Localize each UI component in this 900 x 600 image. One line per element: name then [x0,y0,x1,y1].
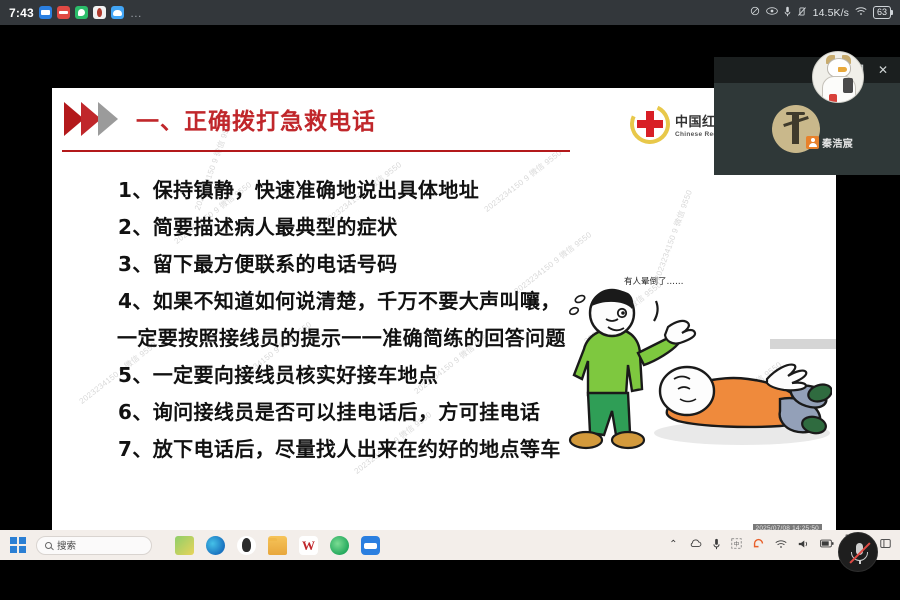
video-call-titlebar: ❐ ✕ [714,57,900,83]
status-bar-right: 14.5K/s 63 [750,6,891,20]
taskbar-left: 搜索 [0,536,380,555]
messenger-icon[interactable] [39,6,52,19]
video-call-overlay[interactable]: ❐ ✕ 秦浩宸 [714,57,900,175]
search-input[interactable]: 搜索 [36,536,152,555]
desktop-grey-strip [770,339,836,349]
eye-icon [766,6,778,19]
recorder-icon[interactable] [57,6,70,19]
cloud-sync-icon[interactable] [689,539,702,551]
mute-bell-icon [750,6,760,19]
chevron-up-icon[interactable]: ⌃ [669,540,677,550]
app-green-icon[interactable] [330,536,349,555]
file-explorer-icon[interactable] [268,536,287,555]
close-window-button[interactable]: ✕ [878,64,888,76]
status-bar-left: 7:43 … [9,6,143,20]
volume-icon[interactable] [798,539,809,552]
bullet-line: 2、简要描述病人最典型的症状 [118,217,678,237]
wifi-icon[interactable] [775,539,787,552]
cloud-icon[interactable] [111,6,124,19]
network-speed: 14.5K/s [813,7,849,19]
widgets-icon[interactable] [175,536,194,555]
participant-name-badge: 秦浩宸 [806,135,853,150]
screen: 7:43 … 14.5K/s 63 [0,0,900,600]
desktop-backdrop: 2023234150 9 微信 9550 2023234150 9 微信 955… [0,25,900,530]
sogou-icon[interactable] [753,538,764,552]
qq-penguin-icon[interactable] [93,6,106,19]
battery-icon[interactable] [820,539,834,551]
chevron-arrows-icon [64,102,126,136]
title-divider [62,150,570,152]
battery-level: 63 [873,6,891,19]
slide-title: 一、正确拨打急救电话 [136,102,376,136]
no-vibrate-icon [797,6,807,20]
bullet-line: 1、保持镇静，快速准确地说出具体地址 [118,180,678,200]
ime-icon[interactable]: 中 [731,538,742,552]
wps-office-icon[interactable] [299,536,318,555]
video-call-body: 秦浩宸 [714,83,900,175]
windows-taskbar: 搜索 ⌃ 中 [0,530,900,560]
search-placeholder: 搜索 [57,538,76,552]
illustration-caption: 有人晕倒了…… [624,275,684,287]
start-button[interactable] [10,537,27,554]
android-status-bar: 7:43 … 14.5K/s 63 [0,0,900,25]
status-overflow-dots: … [130,6,143,20]
taskbar-app-list [175,536,380,555]
qq-icon[interactable] [237,536,256,555]
status-bar-clock: 7:43 [9,6,34,20]
wechat-icon[interactable] [75,6,88,19]
wifi-icon [855,6,867,19]
cartoon-illustration: 有人晕倒了…… [552,283,832,463]
notification-icon[interactable] [880,538,891,552]
app-blue-icon[interactable] [361,536,380,555]
microphone-icon[interactable] [713,538,720,553]
slide-title-row: 一、正确拨打急救电话 [64,102,376,136]
user-icon [806,136,819,149]
mic-muted-floating-button[interactable] [838,532,878,572]
bullet-line: 3、留下最方便联系的电话号码 [118,254,678,274]
microphone-icon [784,6,791,20]
red-cross-icon [630,104,670,144]
search-icon [45,542,52,549]
self-view-bubble[interactable] [812,51,864,103]
edge-icon[interactable] [206,536,225,555]
participant-name: 秦浩宸 [822,135,853,150]
svg-text:中: 中 [733,540,739,548]
fainting-scene-svg [552,283,832,463]
